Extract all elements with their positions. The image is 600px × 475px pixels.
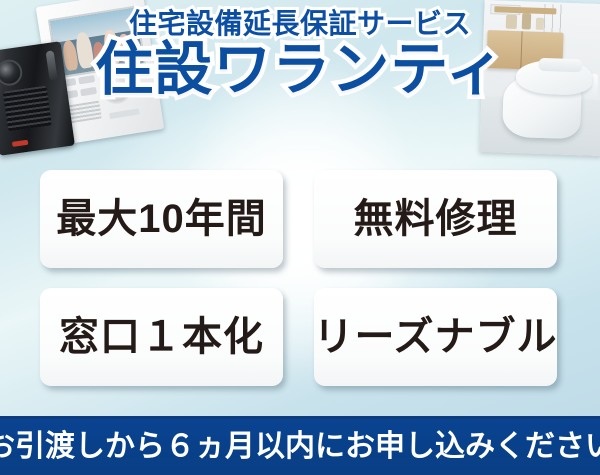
feature-label: 最大10年間: [56, 199, 267, 239]
feature-box-single-contact[interactable]: 窓口１本化: [40, 288, 283, 386]
headline-block: 住宅設備延長保証サービス 住設ワランティ: [0, 10, 600, 99]
feature-row: 窓口１本化 リーズナブル: [40, 288, 557, 386]
doorbell-button: [12, 140, 29, 147]
promo-banner: 住宅設備延長保証サービス 住設ワランティ 最大10年間 無料修理 窓口１本化 リ…: [0, 0, 600, 475]
call-to-action-bar[interactable]: お引渡しから６ヵ月以内にお申し込みください: [0, 416, 600, 475]
feature-label: 窓口１本化: [59, 317, 264, 357]
feature-row: 最大10年間 無料修理: [40, 170, 557, 268]
feature-grid: 最大10年間 無料修理 窓口１本化 リーズナブル: [40, 170, 557, 386]
banner-title: 住設ワランティ: [0, 40, 600, 99]
feature-label: リーズナブル: [314, 317, 558, 357]
feature-box-reasonable[interactable]: リーズナブル: [314, 288, 557, 386]
monitor-label: [109, 108, 140, 119]
feature-box-max-10-years[interactable]: 最大10年間: [40, 170, 283, 268]
feature-label: 無料修理: [354, 199, 518, 239]
call-to-action-text: お引渡しから６ヵ月以内にお申し込みください: [0, 432, 600, 462]
feature-box-free-repair[interactable]: 無料修理: [314, 170, 557, 268]
banner-subtitle: 住宅設備延長保証サービス: [0, 10, 600, 38]
